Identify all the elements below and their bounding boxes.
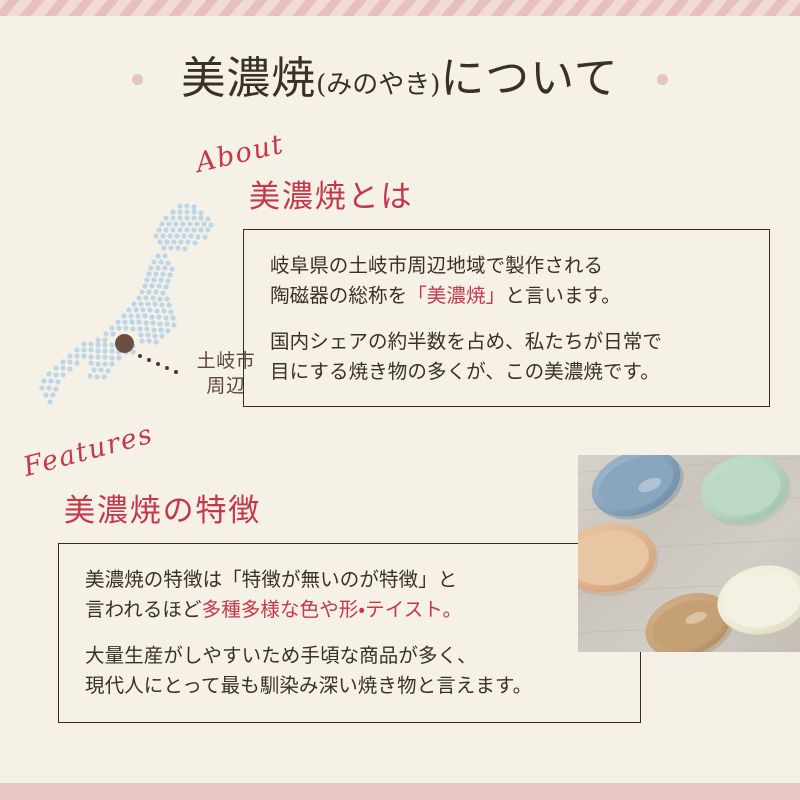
- top-stripe-band: [0, 0, 800, 16]
- mino-ware-photo: [578, 455, 800, 652]
- about-p1-line2-accent: 「美濃焼」: [407, 284, 505, 307]
- about-p2-line1: 国内シェアの約半数を占め、私たちが日常で: [270, 330, 662, 353]
- map-leader-dots-icon: [136, 352, 184, 374]
- page-root: 美濃焼(みのやき)について About 美濃焼とは: [0, 0, 800, 800]
- about-paragraph-2: 国内シェアの約半数を占め、私たちが日常で 目にする焼き物の多くが、この美濃焼です…: [270, 327, 662, 387]
- features-paragraph-1: 美濃焼の特徴は「特徴が無いのが特徴」と 言われるほど多種多様な色や形・テイスト。: [85, 565, 532, 625]
- features-p1-line2-accent: 多種多様な色や形・テイスト。: [202, 598, 463, 621]
- about-heading: 美濃焼とは: [249, 178, 413, 216]
- features-p2-line1: 大量生産がしやすいため手頃な商品が多く、: [85, 644, 477, 667]
- page-title-kana: (みのやき): [316, 70, 440, 100]
- page-title-main: 美濃焼: [181, 53, 316, 104]
- about-p2-line2: 目にする焼き物の多くが、この美濃焼です。: [270, 360, 660, 383]
- features-p2-line2: 現代人にとって最も馴染み深い焼き物と言えます。: [85, 674, 532, 697]
- map-location-marker-icon: [115, 334, 134, 353]
- features-text-box: 美濃焼の特徴は「特徴が無いのが特徴」と 言われるほど多種多様な色や形・テイスト。…: [58, 543, 641, 723]
- about-p1-line2-a: 陶磁器の総称を: [270, 284, 407, 307]
- page-title: 美濃焼(みのやき)について: [181, 50, 618, 114]
- about-text-inner: 岐阜県の土岐市周辺地域で製作される 陶磁器の総称を「美濃焼」と言います。 国内シ…: [270, 251, 662, 387]
- features-script-label: Features: [20, 419, 157, 483]
- features-text-inner: 美濃焼の特徴は「特徴が無いのが特徴」と 言われるほど多種多様な色や形・テイスト。…: [85, 565, 532, 701]
- about-script-label: About: [193, 129, 287, 179]
- about-paragraph-1: 岐阜県の土岐市周辺地域で製作される 陶磁器の総称を「美濃焼」と言います。: [270, 251, 662, 311]
- features-p1-line1: 美濃焼の特徴は「特徴が無いのが特徴」と: [85, 568, 457, 591]
- features-p1-line2-a: 言われるほど: [85, 598, 202, 621]
- bottom-stripe-band: [0, 783, 800, 800]
- title-decor-dot-left-icon: [132, 74, 143, 85]
- japan-map: 土岐市 周辺: [30, 196, 245, 411]
- page-title-suffix: について: [440, 53, 618, 104]
- about-p1-line1: 岐阜県の土岐市周辺地域で製作される: [270, 254, 603, 277]
- about-text-box: 岐阜県の土岐市周辺地域で製作される 陶磁器の総称を「美濃焼」と言います。 国内シ…: [243, 229, 770, 407]
- about-p1-line2-c: と言います。: [505, 284, 621, 307]
- features-paragraph-2: 大量生産がしやすいため手頃な商品が多く、 現代人にとって最も馴染み深い焼き物と言…: [85, 641, 532, 701]
- page-title-wrap: 美濃焼(みのやき)について: [0, 50, 800, 112]
- title-decor-dot-right-icon: [657, 74, 668, 85]
- features-heading: 美濃焼の特徴: [64, 492, 261, 530]
